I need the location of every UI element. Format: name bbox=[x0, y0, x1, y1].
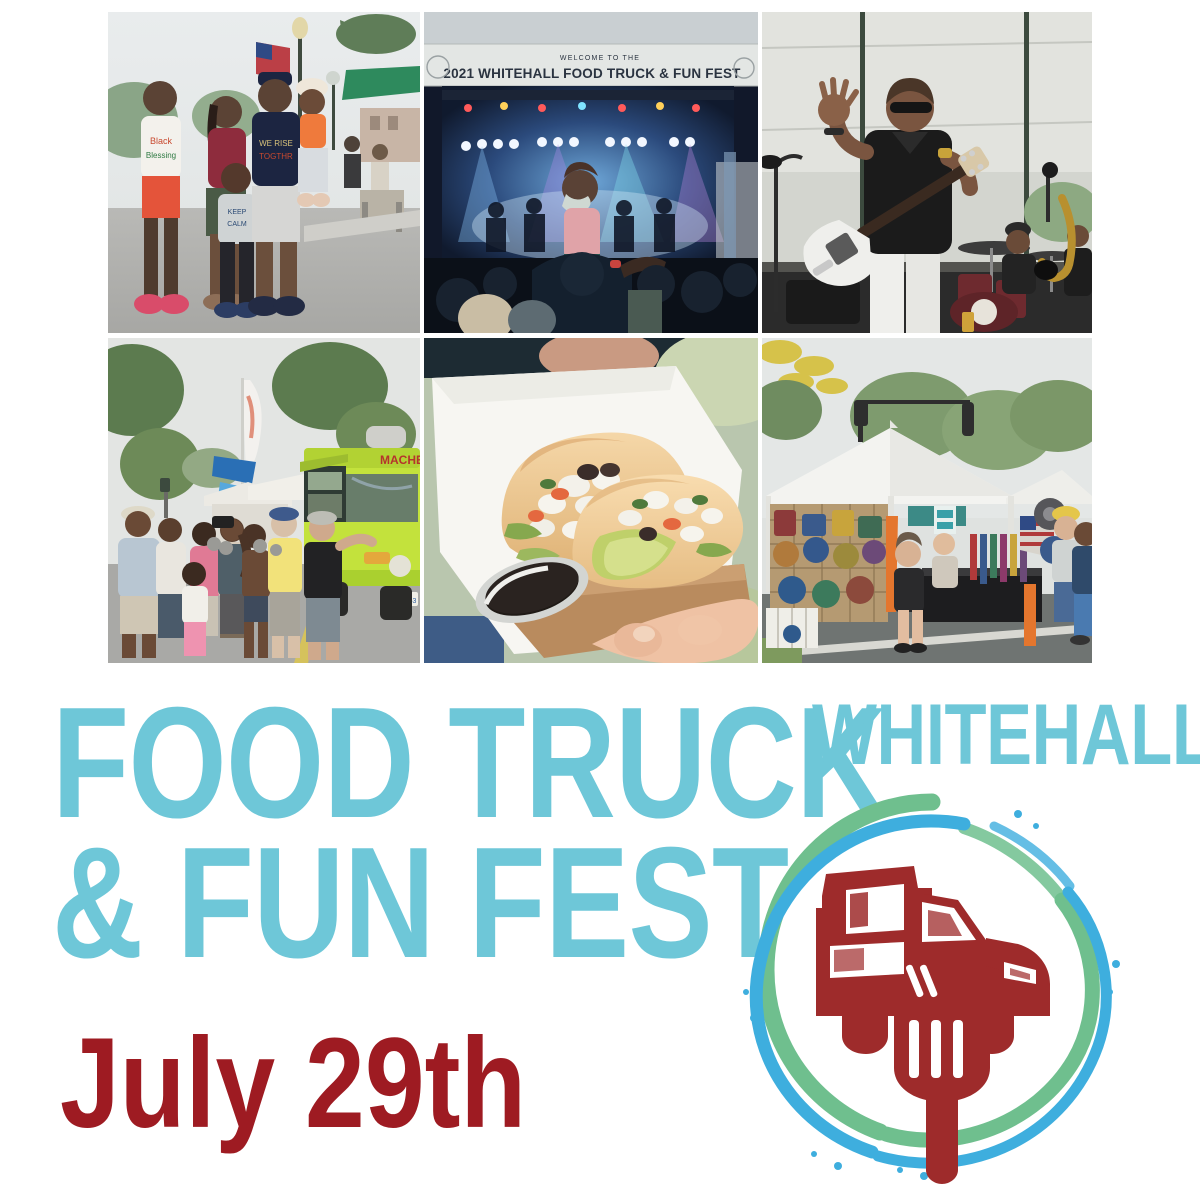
stage-banner-line2: 2021 WHITEHALL FOOD TRUCK & FUN FEST bbox=[443, 66, 741, 81]
photo-bass-player-image bbox=[762, 12, 1092, 333]
photo-main-stage-image: WELCOME TO THE 2021 WHITEHALL FOOD TRUCK… bbox=[424, 12, 758, 333]
photo-bass-player bbox=[762, 12, 1092, 333]
photo-food-truck-line-image: MACHE bbox=[108, 338, 420, 663]
photo-tacos bbox=[424, 338, 758, 663]
svg-text:WE RISE: WE RISE bbox=[259, 139, 293, 148]
city-name: WHITEHALL bbox=[812, 692, 1200, 778]
headline-line-2: & FUN FEST bbox=[52, 824, 788, 982]
stage-banner-line1: WELCOME TO THE bbox=[560, 55, 640, 62]
photo-food-truck-line: MACHE bbox=[108, 338, 420, 663]
photo-family-street-image: Black Blessing bbox=[108, 12, 420, 333]
svg-text:MACHE: MACHE bbox=[380, 453, 420, 467]
svg-text:KEEP: KEEP bbox=[228, 209, 247, 216]
svg-text:CALM: CALM bbox=[227, 221, 247, 228]
photo-grid: Black Blessing bbox=[108, 12, 1092, 663]
logo-icon bbox=[718, 778, 1138, 1190]
svg-text:Black: Black bbox=[150, 136, 173, 146]
photo-tacos-image bbox=[424, 338, 758, 663]
svg-text:Blessing: Blessing bbox=[146, 151, 176, 160]
photo-vendor-tent bbox=[762, 338, 1092, 663]
event-date: July 29th bbox=[60, 1020, 526, 1148]
photo-vendor-tent-image bbox=[762, 338, 1092, 663]
food-truck-fork-circle-logo bbox=[718, 778, 1138, 1190]
svg-text:TOGTHR: TOGTHR bbox=[259, 152, 293, 161]
photo-main-stage: WELCOME TO THE 2021 WHITEHALL FOOD TRUCK… bbox=[424, 12, 758, 333]
photo-family-street: Black Blessing bbox=[108, 12, 420, 333]
